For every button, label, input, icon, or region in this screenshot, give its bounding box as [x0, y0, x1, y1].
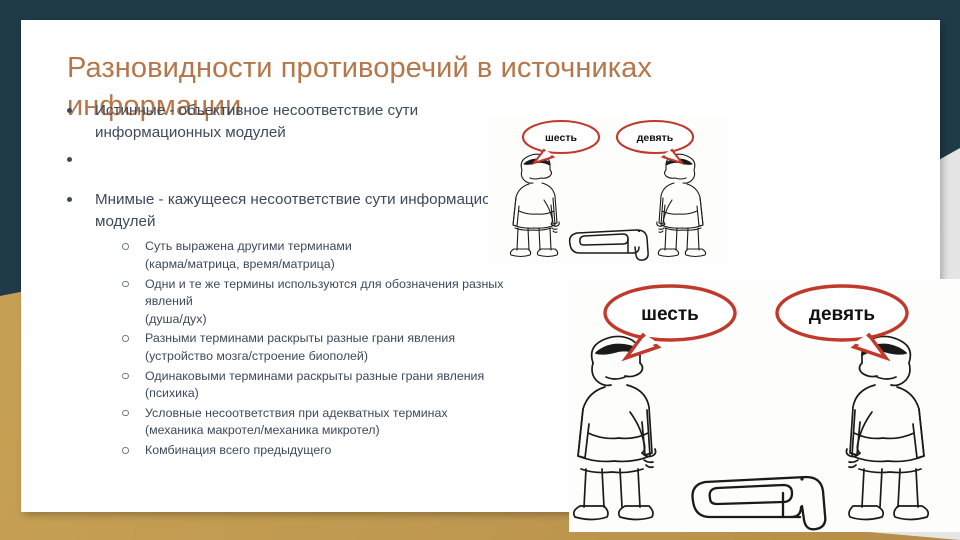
sub-bullet-item: Суть выражена другими терминами (карма/м…: [95, 238, 547, 273]
sub-bullet-text: Одинаковыми терминами раскрыты разные гр…: [145, 368, 547, 386]
slide-card: Разновидности противоречий в источниках …: [21, 20, 940, 512]
speech-bubble-left-text-small: шесть: [545, 132, 577, 144]
bullet-list-level1: Истинные - объективное несоответствие су…: [47, 100, 547, 460]
bullet-text: Истинные - объективное несоответствие су…: [95, 102, 418, 141]
sub-bullet-text: Суть выражена другими терминами: [145, 238, 547, 256]
speech-bubble-right-text-small: девять: [637, 132, 674, 144]
six-nine-perspective-cartoon-large: шесть девять: [569, 279, 960, 532]
slide-stage: Разновидности противоречий в источниках …: [0, 0, 960, 540]
sub-bullet-note: (психика): [145, 385, 547, 403]
bullet-item-true: Истинные - объективное несоответствие су…: [47, 100, 547, 145]
sub-bullet-item: Условные несоответствия при адекватных т…: [95, 405, 547, 440]
sub-bullet-note: (устройство мозга/строение биополей): [145, 348, 547, 366]
sub-bullet-text: Комбинация всего предыдущего: [145, 442, 547, 460]
bullet-spacer: [47, 149, 547, 189]
sub-bullet-item: Одни и те же термины используются для об…: [95, 276, 547, 329]
speech-bubble-left-text-large: шесть: [641, 304, 699, 325]
sub-bullet-text: Разными терминами раскрыты разные грани …: [145, 330, 547, 348]
sub-bullet-text: Условные несоответствия при адекватных т…: [145, 405, 547, 423]
sub-bullet-note: (механика макротел/механика микротел): [145, 422, 547, 440]
bullet-list-level2: Суть выражена другими терминами (карма/м…: [95, 238, 547, 459]
sub-bullet-text: Одни и те же термины используются для об…: [145, 276, 547, 311]
bullet-list-container: Истинные - объективное несоответствие су…: [47, 100, 547, 464]
sub-bullet-note: (карма/матрица, время/матрица): [145, 256, 547, 274]
bullet-item-imaginary: Мнимые - кажущееся несоответствие сути и…: [47, 189, 547, 460]
sub-bullet-item: Комбинация всего предыдущего: [95, 442, 547, 460]
sub-bullet-item: Разными терминами раскрыты разные грани …: [95, 330, 547, 365]
six-nine-perspective-cartoon-small: шесть девять: [488, 116, 728, 262]
sub-bullet-item: Одинаковыми терминами раскрыты разные гр…: [95, 368, 547, 403]
sub-bullet-note: (душа/дух): [145, 311, 547, 329]
bullet-text: Мнимые - кажущееся несоответствие сути и…: [95, 191, 526, 230]
speech-bubble-right-text-large: девять: [809, 304, 875, 325]
